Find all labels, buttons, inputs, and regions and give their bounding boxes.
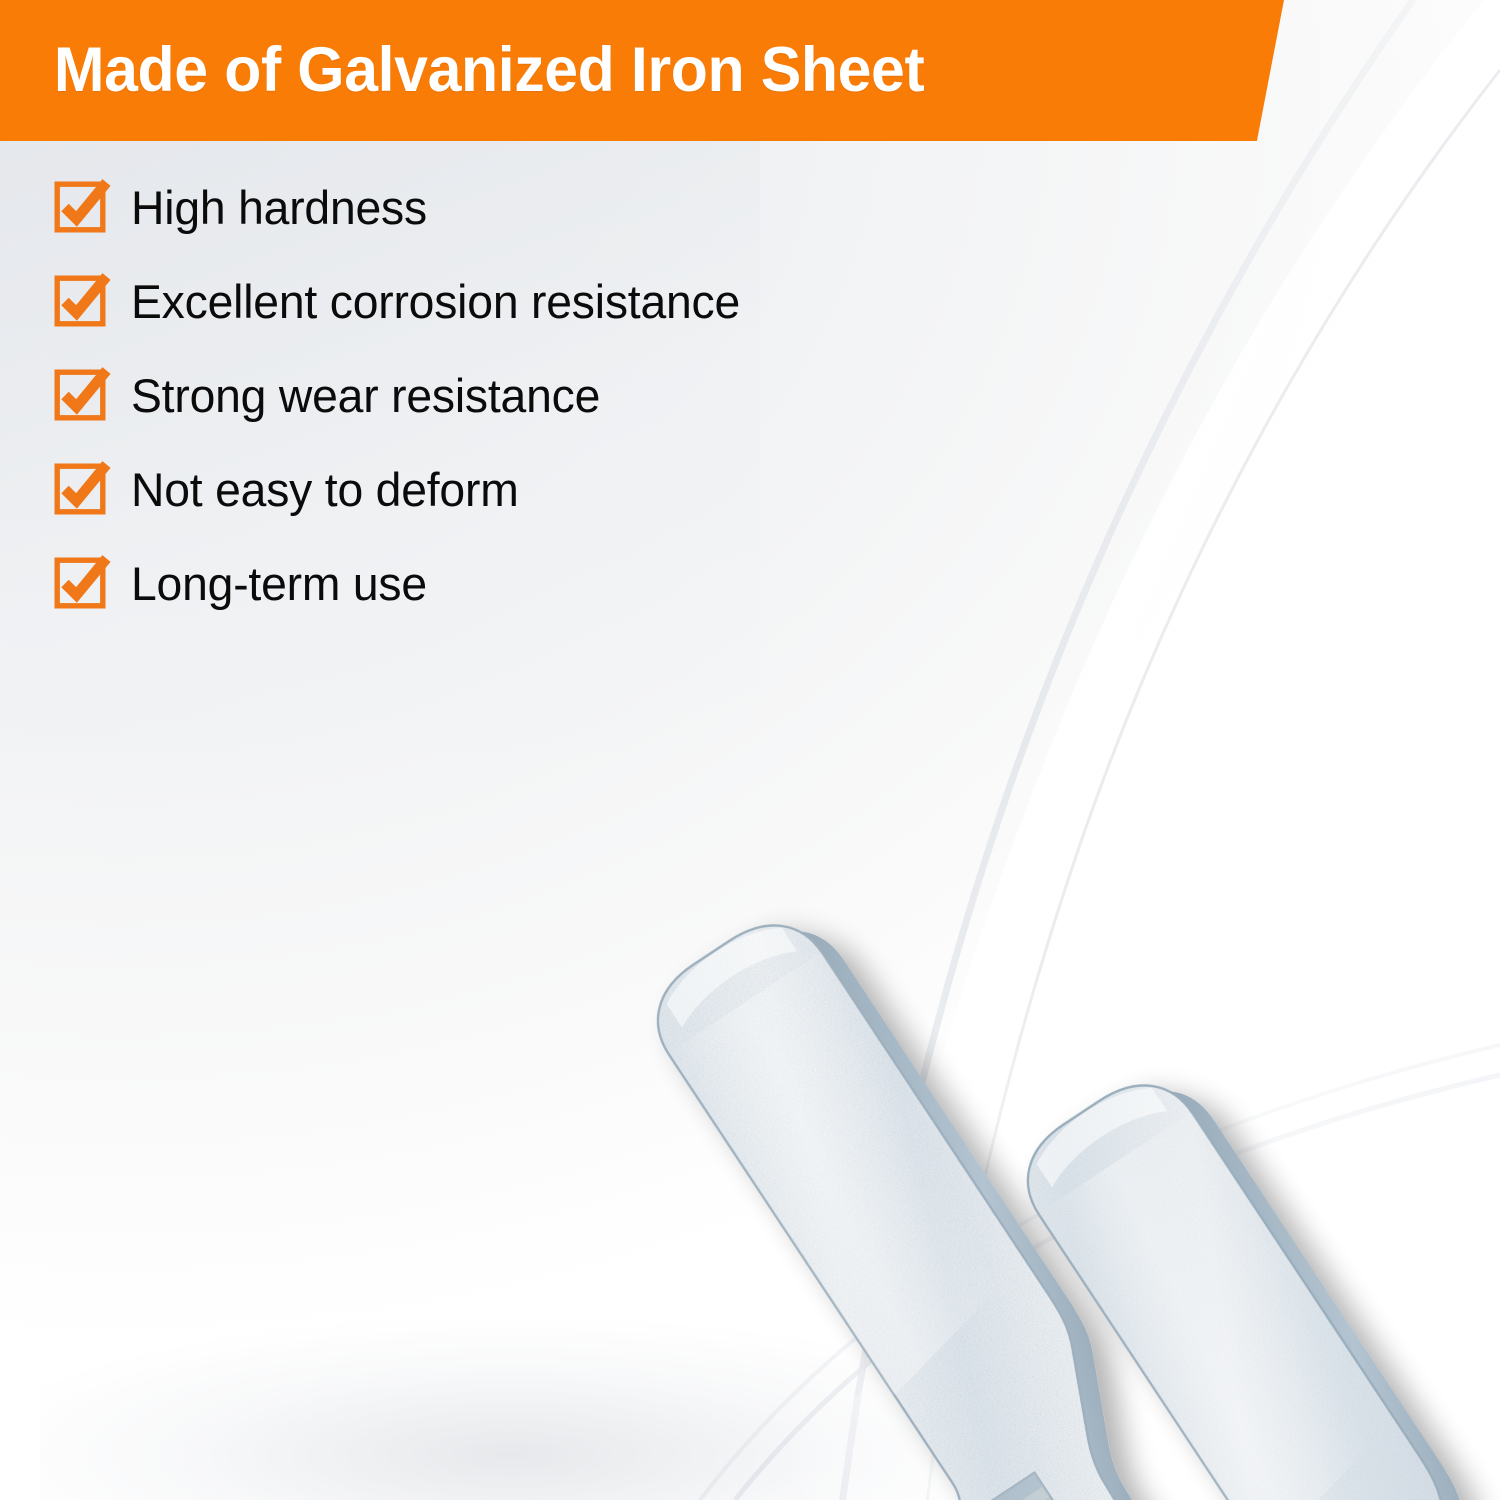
feature-item: Strong wear resistance: [54, 366, 1014, 424]
checkbox-checked-icon: [54, 463, 106, 515]
header-banner: Made of Galvanized Iron Sheet: [0, 0, 1284, 141]
feature-item: Not easy to deform: [54, 460, 1014, 518]
checkbox-checked-icon: [54, 181, 106, 233]
banner-title: Made of Galvanized Iron Sheet: [0, 39, 924, 102]
feature-item: High hardness: [54, 178, 1014, 236]
checkbox-checked-icon: [54, 369, 106, 421]
product-feature-image: Made of Galvanized Iron Sheet High hardn…: [0, 0, 1500, 1500]
checkbox-checked-icon: [54, 275, 106, 327]
feature-item: Long-term use: [54, 554, 1014, 612]
checkbox-checked-icon: [54, 557, 106, 609]
feature-label: Not easy to deform: [131, 466, 519, 513]
feature-label: Strong wear resistance: [131, 372, 600, 419]
feature-label: Long-term use: [131, 560, 427, 607]
feature-item: Excellent corrosion resistance: [54, 272, 1014, 330]
feature-list: High hardness Excellent corrosion resist…: [54, 178, 1014, 612]
feature-label: Excellent corrosion resistance: [131, 278, 740, 325]
feature-label: High hardness: [131, 184, 427, 231]
